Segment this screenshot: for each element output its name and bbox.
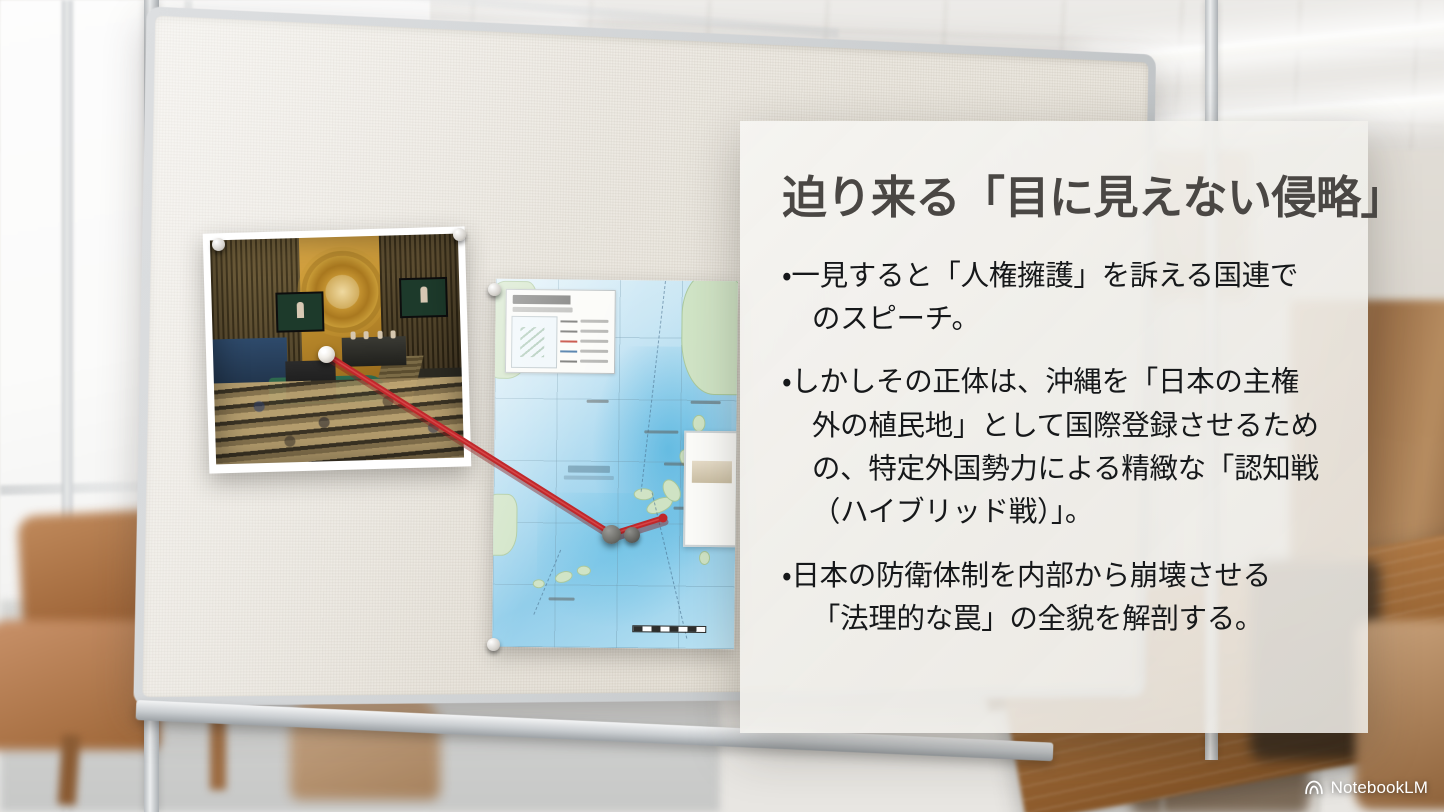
ryukyu-islands-map[interactable] [492, 279, 738, 650]
pushpin[interactable] [487, 638, 500, 651]
bullet-item: ・一見すると「人権擁護」を訴える国連でのスピーチ。 [782, 255, 1326, 342]
map-anchor-pushpin[interactable] [602, 525, 621, 544]
pushpin[interactable] [488, 283, 501, 296]
map-glare [492, 279, 738, 650]
un-assembly-photo[interactable] [203, 226, 472, 473]
photo-anchor-pushpin[interactable] [318, 346, 335, 363]
bullet-list: ・一見すると「人権擁護」を訴える国連でのスピーチ。 ・しかしその正体は、沖縄を「… [782, 255, 1326, 642]
map-anchor-pushpin[interactable] [624, 527, 640, 543]
photo-vignette [210, 234, 464, 465]
photo-image [210, 234, 464, 465]
bullet-item: ・しかしその正体は、沖縄を「日本の主権外の植民地」として国際登録させるための、特… [782, 361, 1326, 534]
notebooklm-arc-icon [1304, 778, 1324, 798]
slide-text-card: 迫り来る「目に見えない侵略」 ・一見すると「人権擁護」を訴える国連でのスピーチ。… [740, 121, 1368, 733]
page-title: 迫り来る「目に見えない侵略」 [782, 173, 1326, 225]
pushpin[interactable] [453, 228, 466, 241]
bullet-item: ・日本の防衛体制を内部から崩壊させる「法理的な罠」の全貌を解剖する。 [782, 555, 1326, 642]
notebooklm-watermark: NotebookLM [1304, 778, 1428, 798]
watermark-label: NotebookLM [1331, 778, 1428, 798]
pushpin[interactable] [212, 238, 225, 251]
slide-canvas: 迫り来る「目に見えない侵略」 ・一見すると「人権擁護」を訴える国連でのスピーチ。… [0, 0, 1444, 812]
